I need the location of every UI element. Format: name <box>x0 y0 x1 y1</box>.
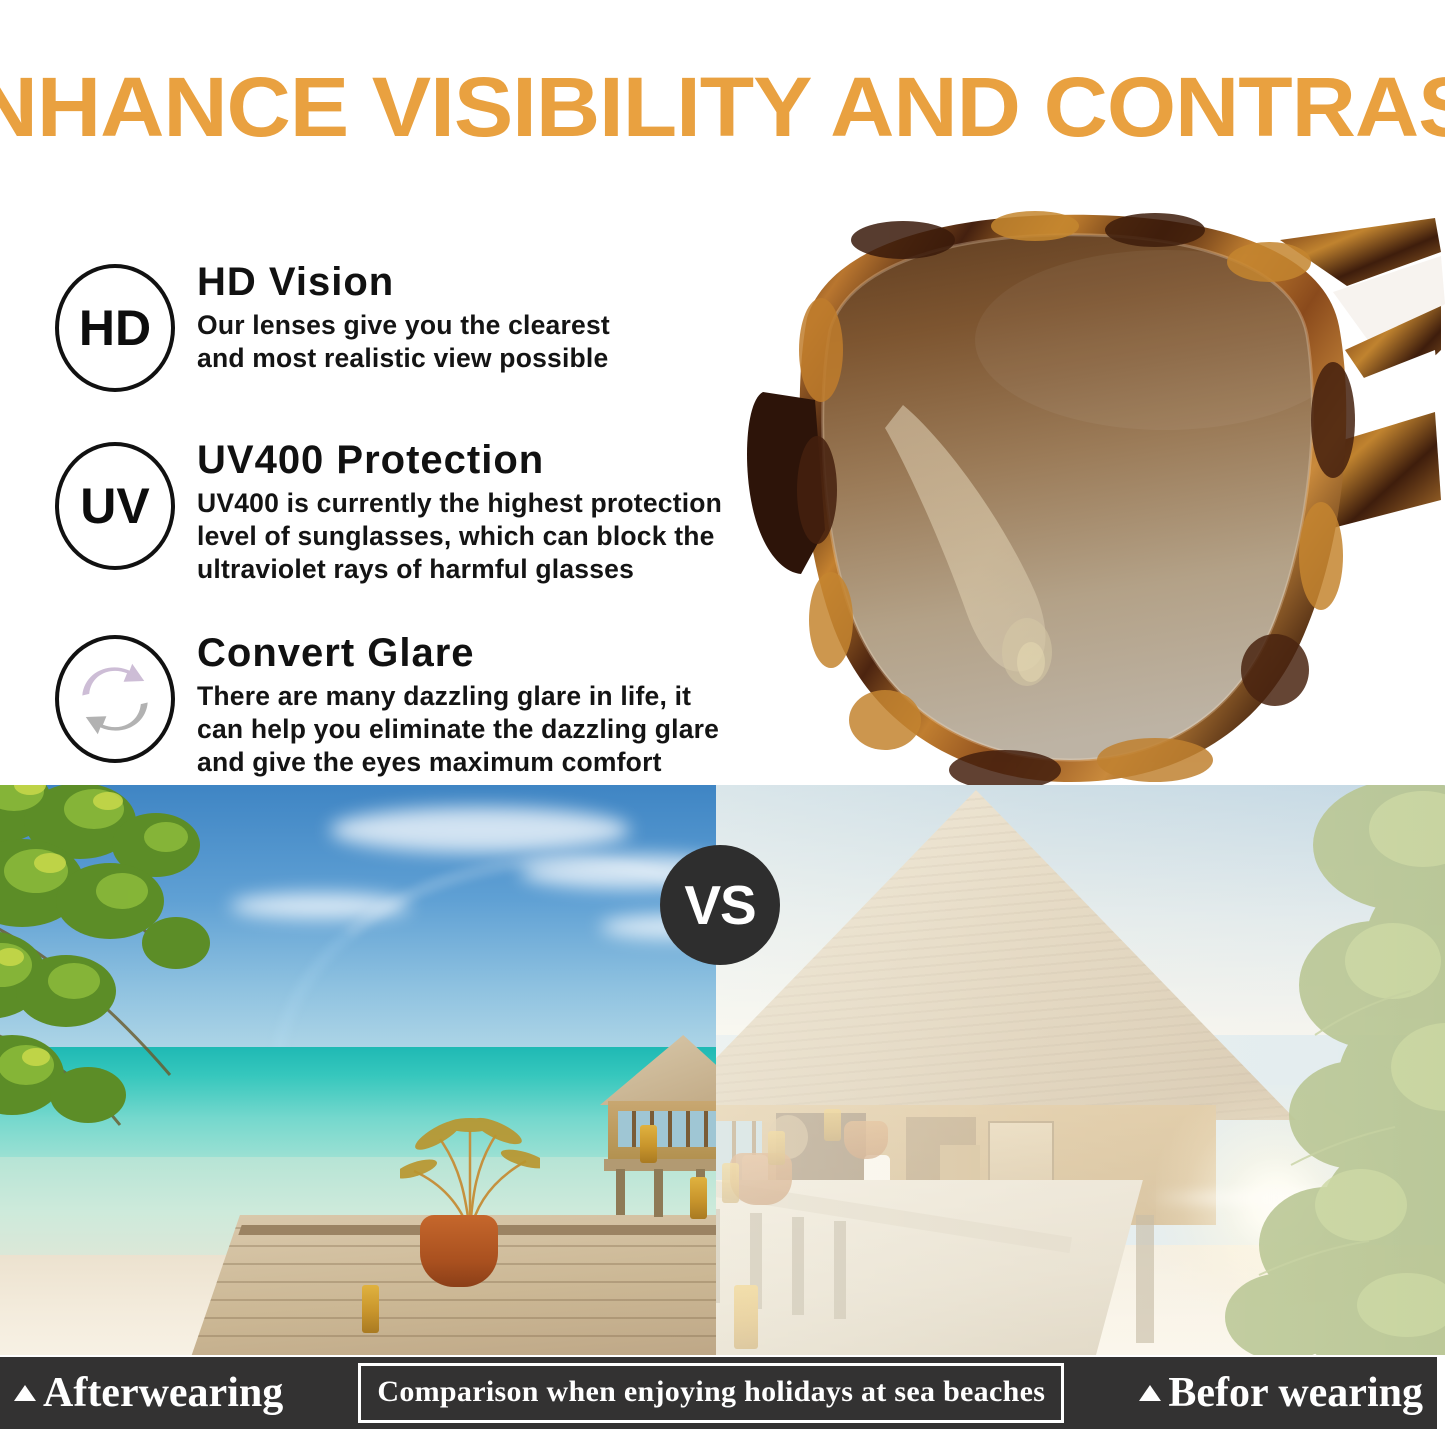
feature-item-hd-vision: HD HD Vision Our lenses give you the cle… <box>55 258 735 392</box>
foliage-tree <box>0 785 330 1205</box>
feature-desc-line: There are many dazzling glare in life, i… <box>197 680 735 713</box>
uv-badge-icon: UV <box>55 442 175 570</box>
terracotta-pot <box>420 1215 498 1287</box>
vs-label: VS <box>684 878 755 933</box>
page-title: ENHANCE VISIBILITY AND CONTRAST <box>0 52 1445 162</box>
feature-text-hd: HD Vision Our lenses give you the cleare… <box>197 258 735 375</box>
glare-wash-overlay <box>716 785 1445 1355</box>
feature-title-glare: Convert Glare <box>197 631 735 676</box>
convert-glare-arrows-icon <box>55 635 175 763</box>
feature-item-uv400: UV UV400 Protection UV400 is currently t… <box>55 436 735 585</box>
feature-item-convert-glare: Convert Glare There are many dazzling gl… <box>55 629 735 778</box>
caption-before-wearing: Befor wearing <box>1139 1372 1423 1414</box>
comparison-caption-bar: Afterwearing Comparison when enjoying ho… <box>0 1357 1437 1429</box>
feature-title-hd: HD Vision <box>197 260 735 305</box>
feature-desc-line: Our lenses give you the clearest <box>197 309 735 342</box>
feature-list: HD HD Vision Our lenses give you the cle… <box>55 258 735 823</box>
hd-badge-label: HD <box>79 303 151 353</box>
feature-text-glare: Convert Glare There are many dazzling gl… <box>197 629 735 778</box>
caption-after-wearing: Afterwearing <box>14 1372 283 1414</box>
feature-desc-hd: Our lenses give you the clearest and mos… <box>197 309 735 375</box>
feature-desc-line: and most realistic view possible <box>197 342 735 375</box>
hd-badge-icon: HD <box>55 264 175 392</box>
product-infographic: ENHANCE VISIBILITY AND CONTRAST HD HD Vi… <box>0 0 1445 1445</box>
feature-desc-glare: There are many dazzling glare in life, i… <box>197 680 735 779</box>
feature-desc-uv: UV400 is currently the highest protectio… <box>197 487 735 586</box>
feature-desc-line: level of sunglasses, which can block the <box>197 520 735 553</box>
feature-title-uv: UV400 Protection <box>197 438 735 483</box>
triangle-up-icon <box>14 1385 36 1401</box>
feature-desc-line: UV400 is currently the highest protectio… <box>197 487 735 520</box>
caption-before-wearing-label: Befor wearing <box>1168 1372 1423 1414</box>
caption-after-wearing-label: Afterwearing <box>43 1372 283 1414</box>
bollard-light <box>690 1177 707 1219</box>
feature-text-uv: UV400 Protection UV400 is currently the … <box>197 436 735 585</box>
photo-half-before-wearing <box>716 785 1445 1355</box>
photo-half-after-wearing <box>0 785 716 1355</box>
bollard-light <box>640 1125 657 1163</box>
uv-badge-label: UV <box>80 481 149 531</box>
feature-desc-line: and give the eyes maximum comfort <box>197 746 735 779</box>
triangle-up-icon <box>1139 1385 1161 1401</box>
bollard-light <box>362 1285 379 1333</box>
vs-badge: VS <box>660 845 780 965</box>
product-image-sunglasses <box>735 200 1445 785</box>
caption-center-box: Comparison when enjoying holidays at sea… <box>358 1363 1064 1423</box>
feature-desc-line: ultraviolet rays of harmful glasses <box>197 553 735 586</box>
feature-desc-line: can help you eliminate the dazzling glar… <box>197 713 735 746</box>
